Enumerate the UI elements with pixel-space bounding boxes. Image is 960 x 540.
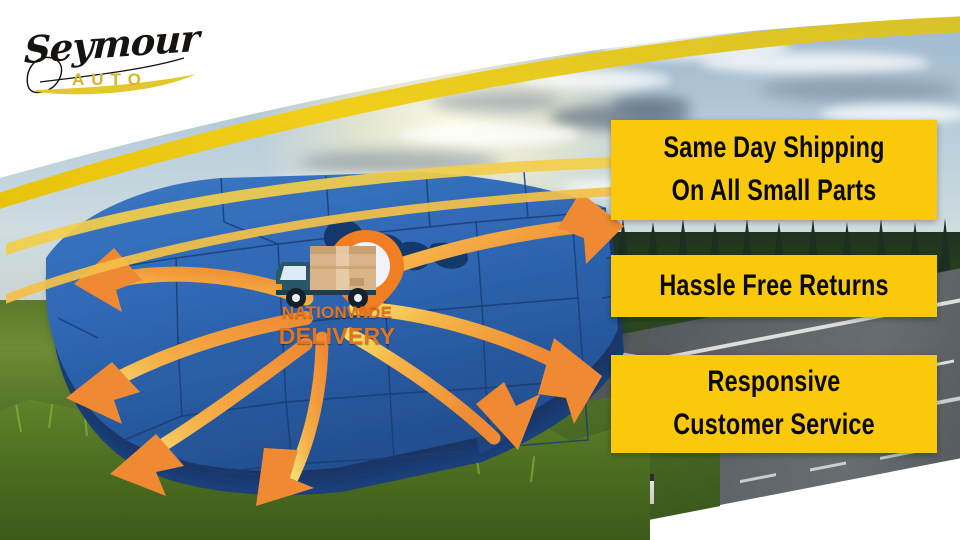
claim-line: Responsive bbox=[647, 361, 901, 404]
claims-panel: Same Day Shipping On All Small Parts Has… bbox=[611, 0, 937, 540]
promo-banner: Seymour AUTO bbox=[0, 0, 960, 540]
badge-line-2: DELIVERY bbox=[262, 323, 412, 350]
claim-line: Same Day Shipping bbox=[647, 127, 901, 170]
brand-logo[interactable]: Seymour AUTO bbox=[18, 14, 208, 100]
logo-sub-name: AUTO bbox=[72, 70, 148, 90]
nationwide-delivery-badge: NATIONWIDE DELIVERY bbox=[262, 222, 412, 367]
claim-line: Customer Service bbox=[647, 404, 901, 447]
claim-line: On All Small Parts bbox=[647, 170, 901, 213]
claim-hassle-free-returns[interactable]: Hassle Free Returns bbox=[611, 255, 937, 317]
badge-line-1: NATIONWIDE bbox=[262, 303, 412, 323]
claim-responsive-customer-service[interactable]: Responsive Customer Service bbox=[611, 355, 937, 453]
claim-same-day-shipping[interactable]: Same Day Shipping On All Small Parts bbox=[611, 120, 937, 220]
claim-line: Hassle Free Returns bbox=[647, 265, 901, 308]
